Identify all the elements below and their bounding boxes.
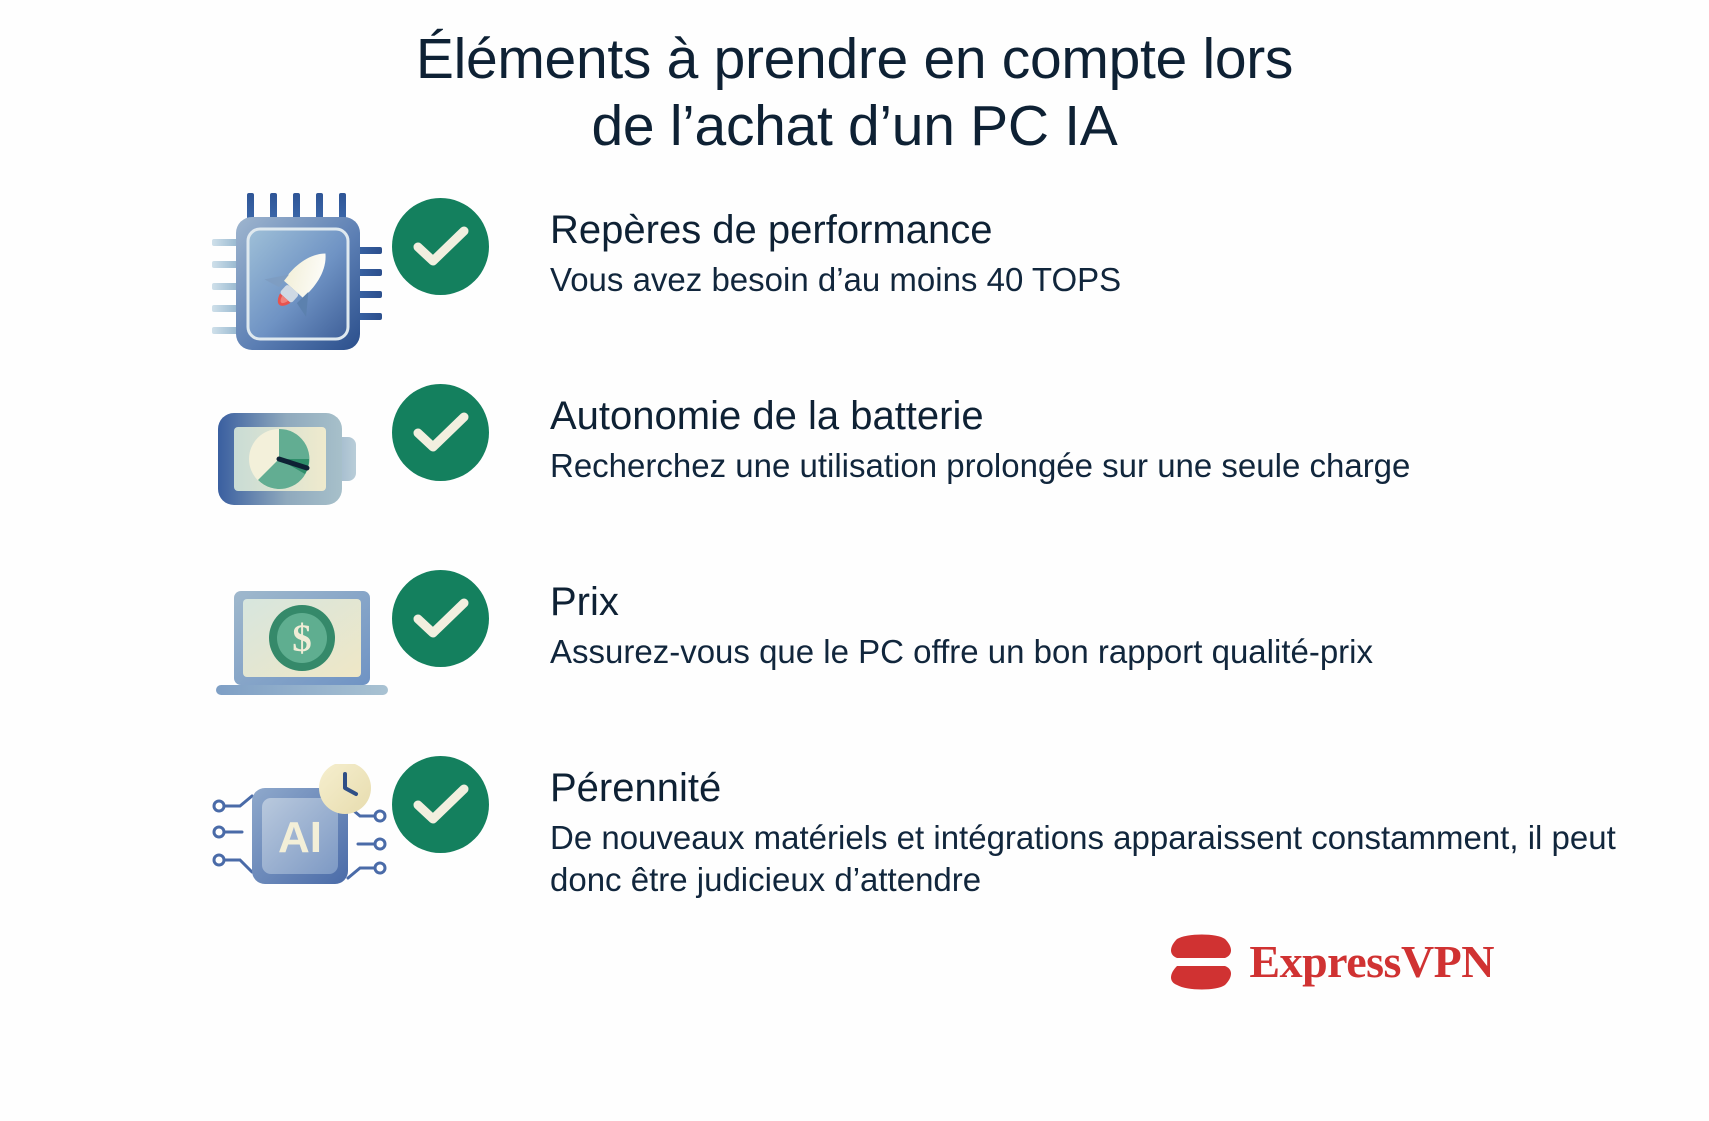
check-icon <box>392 570 489 667</box>
check-icon <box>392 198 489 295</box>
check-icon <box>392 384 489 481</box>
expressvpn-logo: ExpressVPN <box>1167 931 1494 993</box>
expressvpn-logo-mark <box>1167 931 1235 993</box>
list-item-text: Autonomie de la batterie Recherchez une … <box>542 374 1410 487</box>
page-title: Éléments à prendre en compte lors de l’a… <box>0 0 1709 161</box>
list-item-description: Assurez-vous que le PC offre un bon rapp… <box>550 631 1373 673</box>
list-item-description: De nouveaux matériels et intégrations ap… <box>550 817 1640 901</box>
laptop-dollar-icon: $ <box>212 560 392 730</box>
list-item: Repères de performance Vous avez besoin … <box>0 188 1709 374</box>
check-badge <box>392 560 542 667</box>
list-item-description: Vous avez besoin d’au moins 40 TOPS <box>550 259 1121 301</box>
list-item: AI Pérennité De nouveaux matériels <box>0 746 1709 946</box>
list-item-text: Repères de performance Vous avez besoin … <box>542 188 1121 301</box>
page-title-line-2: de l’achat d’un PC IA <box>0 93 1709 160</box>
page-title-line-1: Éléments à prendre en compte lors <box>0 26 1709 93</box>
list-item-description: Recherchez une utilisation prolongée sur… <box>550 445 1410 487</box>
list-item-title: Repères de performance <box>550 206 1121 255</box>
list-item: $ Prix Assurez-vous que le PC offre un b… <box>0 560 1709 746</box>
list-item-title: Pérennité <box>550 764 1640 813</box>
cpu-rocket-icon <box>212 188 392 358</box>
list-item: Autonomie de la batterie Recherchez une … <box>0 374 1709 560</box>
check-badge <box>392 188 542 295</box>
list-item-title: Prix <box>550 578 1373 627</box>
list-item-title: Autonomie de la batterie <box>550 392 1410 441</box>
svg-text:AI: AI <box>278 813 322 862</box>
check-icon <box>392 756 489 853</box>
battery-gauge-icon <box>212 374 392 544</box>
check-badge <box>392 746 542 853</box>
list-item-text: Prix Assurez-vous que le PC offre un bon… <box>542 560 1373 673</box>
svg-text:$: $ <box>292 617 312 660</box>
infographic-page: Éléments à prendre en compte lors de l’a… <box>0 0 1709 1121</box>
checklist: Repères de performance Vous avez besoin … <box>0 188 1709 946</box>
expressvpn-logo-text: ExpressVPN <box>1249 939 1494 985</box>
ai-chip-clock-icon: AI <box>212 746 392 916</box>
list-item-text: Pérennité De nouveaux matériels et intég… <box>542 746 1640 901</box>
check-badge <box>392 374 542 481</box>
